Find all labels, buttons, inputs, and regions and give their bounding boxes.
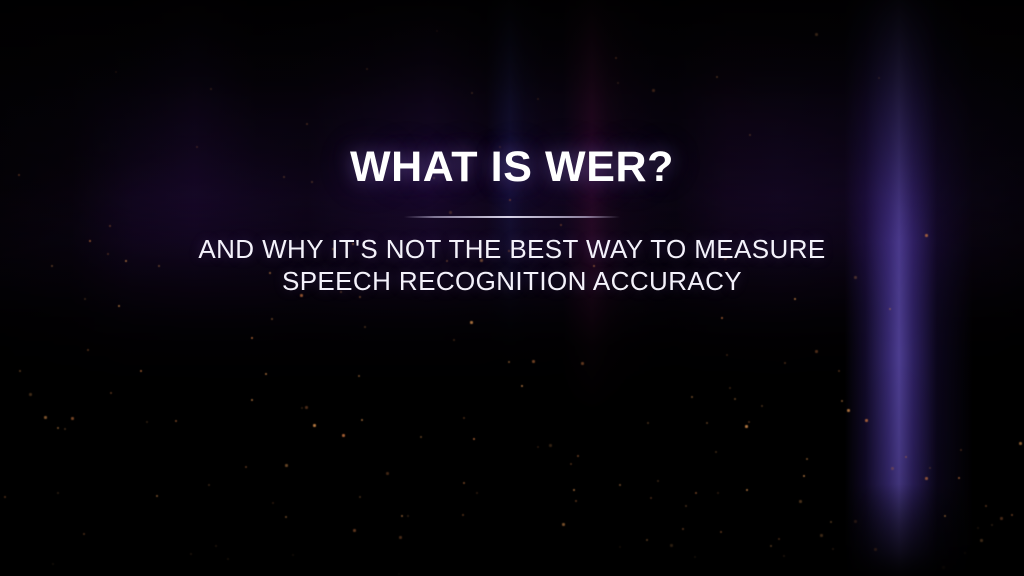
slide-subtitle: AND WHY IT'S NOT THE BEST WAY TO MEASURE… bbox=[198, 233, 825, 297]
title-divider bbox=[404, 216, 620, 218]
slide-subtitle-line-2: SPEECH RECOGNITION ACCURACY bbox=[198, 265, 825, 297]
slide-title: WHAT IS WER? bbox=[350, 146, 674, 189]
slide-content: WHAT IS WER? AND WHY IT'S NOT THE BEST W… bbox=[0, 0, 1024, 576]
slide-subtitle-line-1: AND WHY IT'S NOT THE BEST WAY TO MEASURE bbox=[198, 233, 825, 265]
presentation-slide: WHAT IS WER? AND WHY IT'S NOT THE BEST W… bbox=[0, 0, 1024, 576]
